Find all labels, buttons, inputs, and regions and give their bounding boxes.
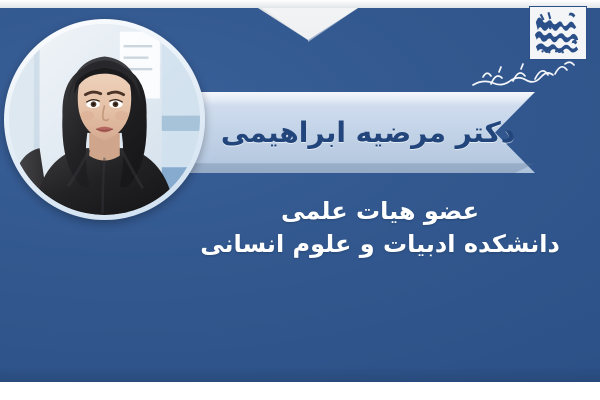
university-logo (469, 6, 587, 92)
portrait-frame (4, 19, 205, 220)
person-name: دکتر مرضیه ابراهیمی (183, 92, 553, 173)
public-relations-calligraphy-icon (469, 54, 581, 92)
university-logo-mark (529, 6, 587, 60)
subtitle-line-1: عضو هیات علمی (175, 196, 585, 227)
avatar (9, 24, 200, 215)
subtitle-block: عضو هیات علمی دانشکده ادبیات و علوم انسا… (175, 196, 585, 260)
logo-calligraphy-icon (530, 7, 586, 59)
banner-canvas: دکتر مرضیه ابراهیمی (0, 0, 600, 400)
public-relations-script (469, 54, 581, 92)
portrait-photo (9, 24, 200, 215)
subtitle-line-2: دانشکده ادبیات و علوم انسانی (175, 229, 585, 260)
